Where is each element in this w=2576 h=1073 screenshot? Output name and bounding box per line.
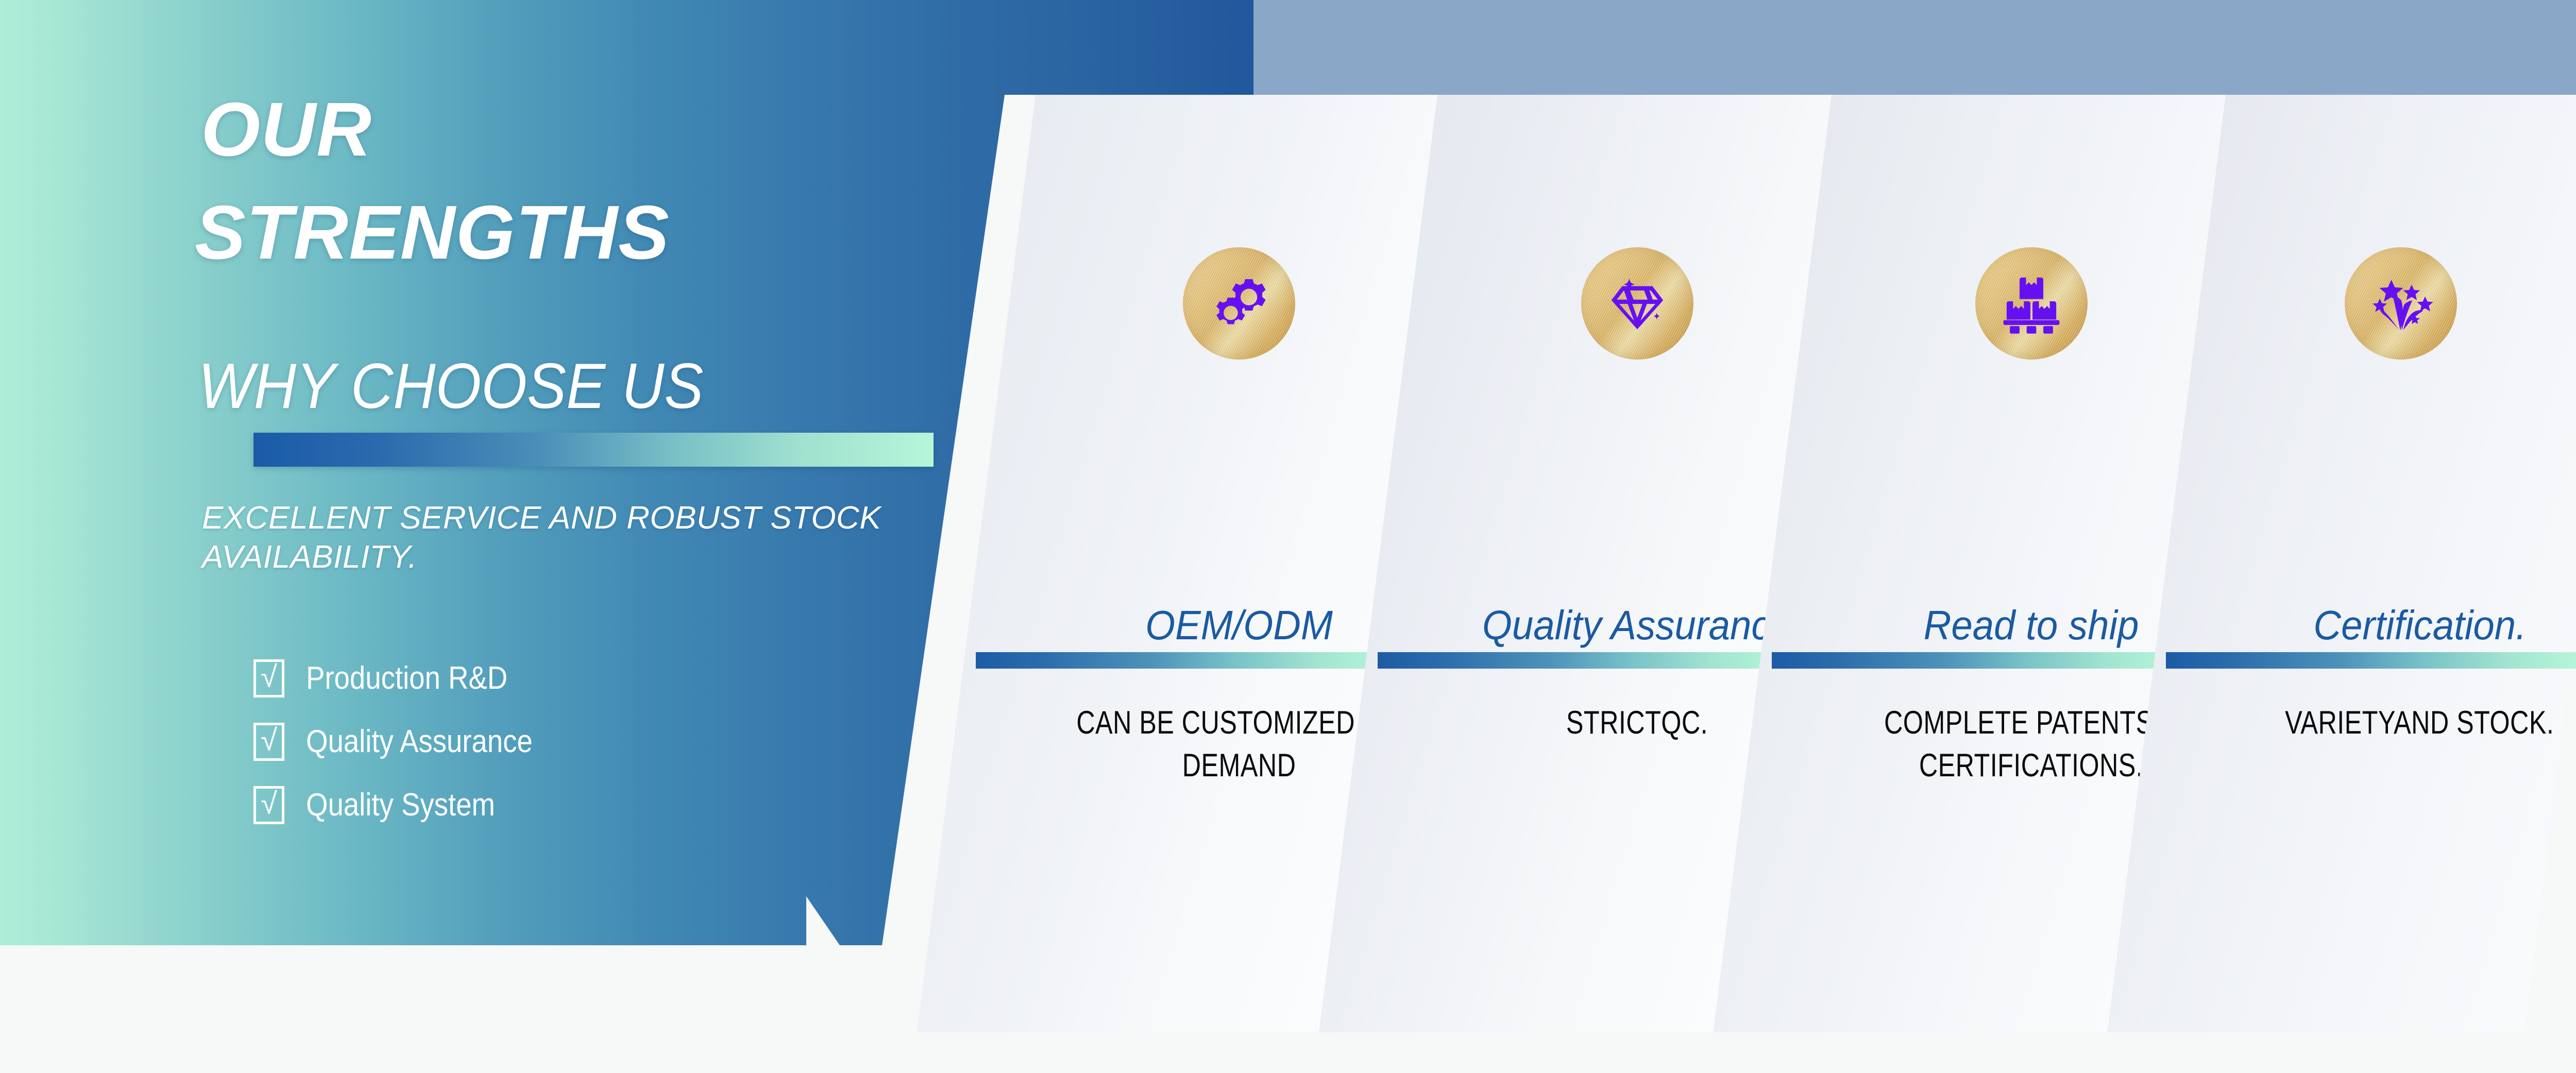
card-description: STRICTQC. bbox=[1478, 702, 1797, 744]
card-description: VARIETYAND STOCK. bbox=[2252, 702, 2576, 744]
strength-cards: OEM/ODM CAN BE CUSTOMIZED ON DEMAND bbox=[0, 0, 2576, 1073]
card-certification[interactable]: Certification. VARIETYAND STOCK. bbox=[2226, 95, 2576, 1032]
banner-stage: OUR STRENGTHS WHY CHOOSE US EXCELLENT SE… bbox=[0, 0, 2576, 1073]
